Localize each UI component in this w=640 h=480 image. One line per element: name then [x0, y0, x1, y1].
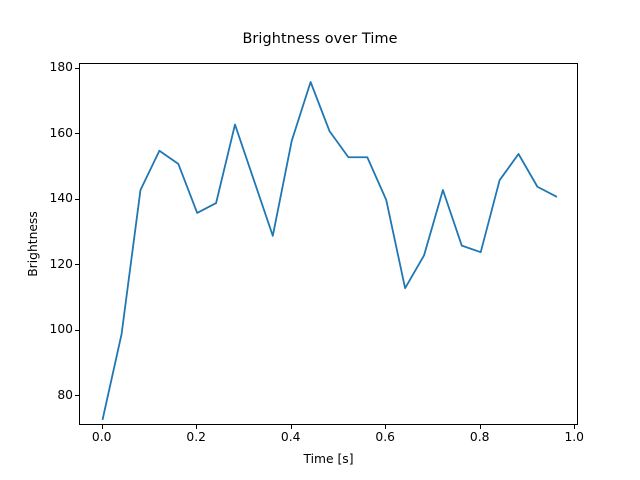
x-axis-tick-labels: 0.00.20.40.60.81.0	[79, 430, 578, 446]
x-tick-label: 0.0	[72, 430, 132, 444]
x-tick-label: 0.8	[450, 430, 510, 444]
line-series-svg	[80, 64, 579, 426]
x-axis-label: Time [s]	[79, 452, 578, 466]
y-tick-label: 140	[33, 192, 73, 204]
y-tick-label: 120	[33, 258, 73, 270]
line-series-brightness	[103, 82, 557, 419]
x-tick-label: 1.0	[544, 430, 604, 444]
matplotlib-figure: Brightness over Time Brightness Time [s]…	[0, 0, 640, 480]
chart-title: Brightness over Time	[0, 31, 640, 47]
y-tick-label: 100	[33, 323, 73, 335]
y-axis-tick-labels: 80100120140160180	[33, 63, 73, 425]
y-tick-label: 180	[33, 61, 73, 73]
y-tick-label: 80	[33, 389, 73, 401]
x-tick-label: 0.2	[166, 430, 226, 444]
plot-area	[79, 63, 578, 425]
x-tick-label: 0.6	[355, 430, 415, 444]
y-tick-label: 160	[33, 127, 73, 139]
x-tick-label: 0.4	[261, 430, 321, 444]
